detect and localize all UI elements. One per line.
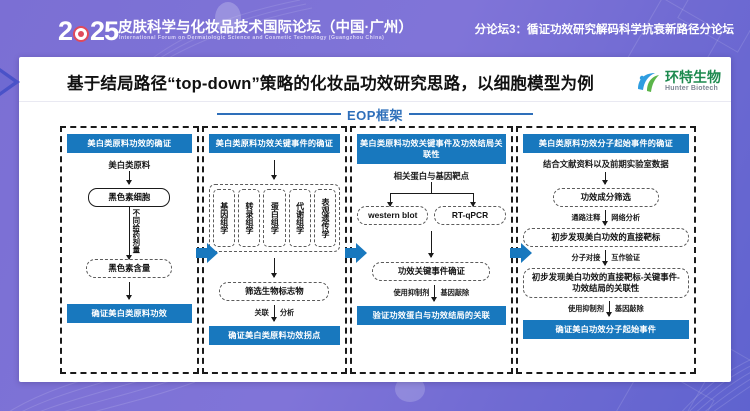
column1-node-melanocyte: 黑色素细胞 [88,188,170,207]
column1-footer: 确证美白类原料功效 [67,304,192,323]
event-year-logo: 2 25 [58,14,118,44]
omics-proteomics: 蛋白组学 [263,189,285,247]
year-digits-left: 2 [58,18,72,44]
note-left: 分子对接 [572,253,601,263]
note-right: 网络分析 [611,213,640,223]
chevron-right-icon-3 [510,242,532,264]
arrow-down-icon [274,160,275,179]
column3-assay-row: western blot RT-qPCR [357,206,505,225]
note-right: 分析 [280,308,294,318]
arrow-down-icon [431,231,432,257]
brand-logo: 环特生物 Hunter Biotech [635,69,721,95]
arrow-down-icon [274,258,275,277]
arrow-down-icon [274,305,275,321]
arrow-down-icon [609,301,610,316]
column3-footer: 验证功效蛋白与功效结局的关联 [357,306,505,325]
column3-node-key-event: 功效关键事件确证 [372,262,490,281]
note-right: 互作验证 [611,253,640,263]
page-title: 基于结局路径“top-down”策略的化妆品功效研究思路，以细胞模型为例 [67,70,594,94]
note-left: 使用抑制剂 [568,304,604,314]
event-title-en: International Forum on Dermatologic Scie… [119,35,384,41]
divider-line-right [409,113,533,115]
leaf-logo-icon [635,69,661,95]
column4-pathway-note: 通路注释 网络分析 [572,210,641,225]
note-left: 使用抑制剂 [393,288,429,298]
arrow-down-icon [129,207,130,259]
column3-header: 美白类原料功效关键事件及功效结局关联性 [357,134,505,164]
divider-line-left [217,113,341,115]
column4-footer: 确证美白功效分子起始事件 [523,320,689,339]
title-arrow-icon [0,62,42,102]
column3-validation-note: 使用抑制剂 基因敲除 [393,285,469,301]
omics-transcriptomics: 转录组学 [238,189,260,247]
column1-node-melanin-content: 黑色素含量 [86,259,172,278]
connector-leg-right [473,193,474,206]
column4-node-direct-target: 初步发现美白功效的直接靶标 [523,228,689,247]
arrow-down-icon [434,285,435,301]
section-heading: EOP框架 [19,102,731,126]
connector-bar [390,193,473,194]
connector-leg-left [390,193,391,206]
column4-node-literature: 结合文献资料以及前期实验室数据 [541,159,671,170]
column1-dose-note: 不同给药剂量 [132,209,141,253]
column2-correlation-note: 关联 分析 [254,305,294,321]
column2-node-biomarker: 筛选生物标志物 [219,282,329,301]
omics-group: 基因组学 转录组学 蛋白组学 代谢组学 表观遗传学 [209,184,341,252]
arrow-down-icon [129,282,130,299]
column4-inhibitor-note: 使用抑制剂 基因敲除 [568,301,644,316]
note-left: 关联 [254,308,268,318]
brand-text-block: 环特生物 Hunter Biotech [665,70,721,93]
eop-flow-diagram: 美白类原料功效的确证 美白类原料 黑色素细胞 不同给药剂量 黑色素含量 确证美白… [60,126,696,374]
arrow-down-icon [605,172,606,184]
chevron-right-icon-2 [345,242,367,264]
flow-column-1: 美白类原料功效的确证 美白类原料 黑色素细胞 不同给药剂量 黑色素含量 确证美白… [60,126,199,374]
top-header-bar: 2 25 皮肤科学与化妆品技术国际论坛（中国·广州） International… [0,0,750,57]
column1-node-material: 美白类原料 [106,160,152,171]
brand-name-en: Hunter Biotech [665,84,721,93]
note-left: 通路注释 [572,213,601,223]
logo-emblem-icon [73,26,89,42]
section-title: EOP框架 [347,105,403,124]
column4-node-association: 初步发现美白功效的直接靶标-关键事件-功效结局的关联性 [523,268,689,298]
column1-header: 美白类原料功效的确证 [67,134,192,153]
omics-genomics: 基因组学 [213,189,235,247]
column3-node-targets: 相关蛋白与基因靶点 [392,171,471,182]
forum-session-tag: 分论坛3：循证功效研究解码科学抗衰新路径分论坛 [475,21,734,37]
column4-node-screening: 功效成分筛选 [553,188,659,207]
arrow-down-icon [605,210,606,225]
arrow-down-icon [605,250,606,265]
slide-title-bar: 基于结局路径“top-down”策略的化妆品功效研究思路，以细胞模型为例 环特生… [19,62,731,102]
note-right: 基因敲除 [440,288,469,298]
arrow-down-icon [129,171,130,184]
note-right: 基因敲除 [615,304,644,314]
column2-header: 美白类原料功效关键事件的确证 [209,134,341,153]
chevron-right-icon-1 [196,242,218,264]
column3-node-rt-qpcr: RT-qPCR [434,206,505,225]
omics-metabolomics: 代谢组学 [289,189,311,247]
flow-column-2: 美白类原料功效关键事件的确证 基因组学 转录组学 蛋白组学 代谢组学 表观遗传学… [202,126,348,374]
flow-column-4: 美白类原料功效分子起始事件的确证 结合文献资料以及前期实验室数据 功效成分筛选 … [516,126,696,374]
column3-node-western-blot: western blot [357,206,428,225]
brand-name-cn: 环特生物 [665,70,721,84]
column3-split-connector [357,182,505,206]
omics-epigenetics: 表观遗传学 [314,189,336,247]
year-digits-right: 25 [90,18,118,44]
column2-footer: 确证美白类原料功效拐点 [209,326,341,345]
event-title-cn: 皮肤科学与化妆品技术国际论坛（中国·广州） [118,16,413,37]
column4-header: 美白类原料功效分子起始事件的确证 [523,134,689,153]
column4-docking-note: 分子对接 互作验证 [572,250,641,265]
connector-stem [431,182,432,193]
flow-column-3: 美白类原料功效关键事件及功效结局关联性 相关蛋白与基因靶点 western bl… [350,126,512,374]
